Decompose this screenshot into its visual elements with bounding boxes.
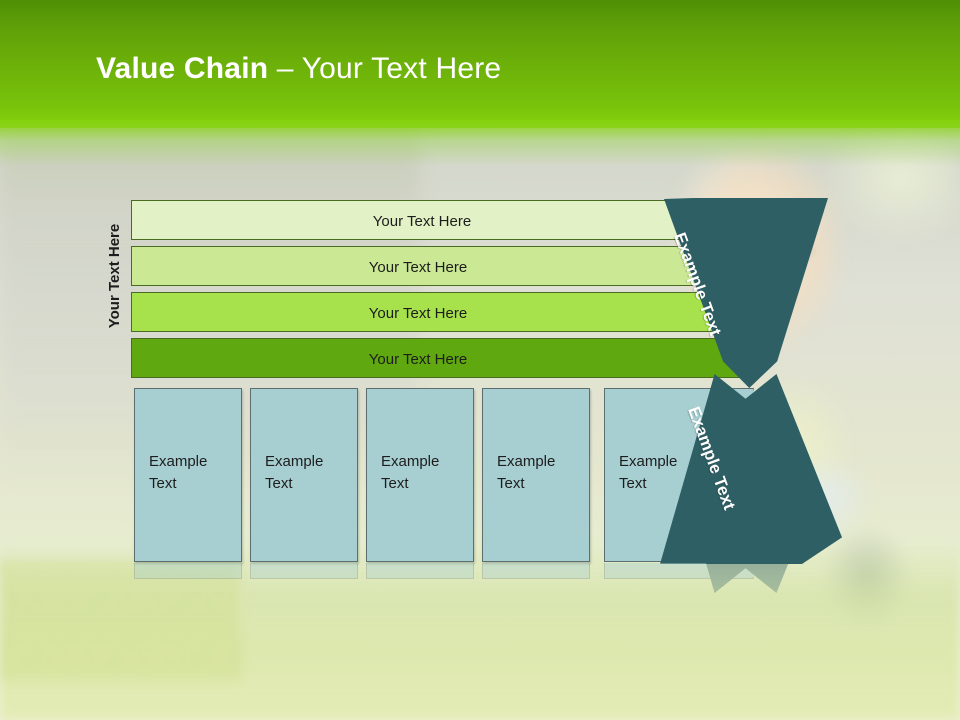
activity-box-1[interactable]: Example Text — [134, 388, 242, 562]
page-title-light: Your Text Here — [302, 52, 502, 85]
reflection-box-4: Example Text — [482, 563, 590, 579]
activity-box-4-line2: Text — [497, 473, 589, 495]
page-title-bold: Value Chain — [96, 52, 268, 85]
activity-box-3-line2: Text — [381, 473, 473, 495]
activity-box-1-line2: Text — [149, 473, 241, 495]
reflection-content: Example Text Example Text Example Text E… — [0, 563, 960, 579]
activity-box-1-line1: Example — [149, 451, 241, 473]
value-bar-4[interactable]: Your Text Here — [131, 338, 759, 378]
activity-box-2-line2: Text — [265, 473, 357, 495]
reflection-box-2: Example Text — [250, 563, 358, 579]
value-bar-3-label: Your Text Here — [132, 293, 704, 333]
value-bar-2-label: Your Text Here — [132, 247, 704, 287]
activity-box-2[interactable]: Example Text — [250, 388, 358, 562]
reflection-box-3: Example Text — [366, 563, 474, 579]
activity-box-2-line1: Example — [265, 451, 357, 473]
slide-canvas: Value Chain – Your Text Here Your Text H… — [0, 0, 960, 720]
reflection-box-1: Example Text — [134, 563, 242, 579]
value-bar-2[interactable]: Your Text Here — [131, 246, 721, 286]
reflection-layer: Example Text Example Text Example Text E… — [0, 563, 960, 720]
activity-box-3[interactable]: Example Text — [366, 388, 474, 562]
page-title-separator: – — [268, 52, 301, 85]
value-bar-1[interactable]: Your Text Here — [131, 200, 705, 240]
value-bar-4-label: Your Text Here — [132, 339, 704, 379]
activity-box-4-line1: Example — [497, 451, 589, 473]
vertical-axis-label: Your Text Here — [106, 208, 130, 344]
page-title: Value Chain – Your Text Here — [96, 52, 501, 86]
activity-box-3-line1: Example — [381, 451, 473, 473]
header-fade — [0, 120, 960, 166]
activity-box-4[interactable]: Example Text — [482, 388, 590, 562]
value-bar-1-label: Your Text Here — [132, 201, 712, 241]
value-bar-3[interactable]: Your Text Here — [131, 292, 741, 332]
